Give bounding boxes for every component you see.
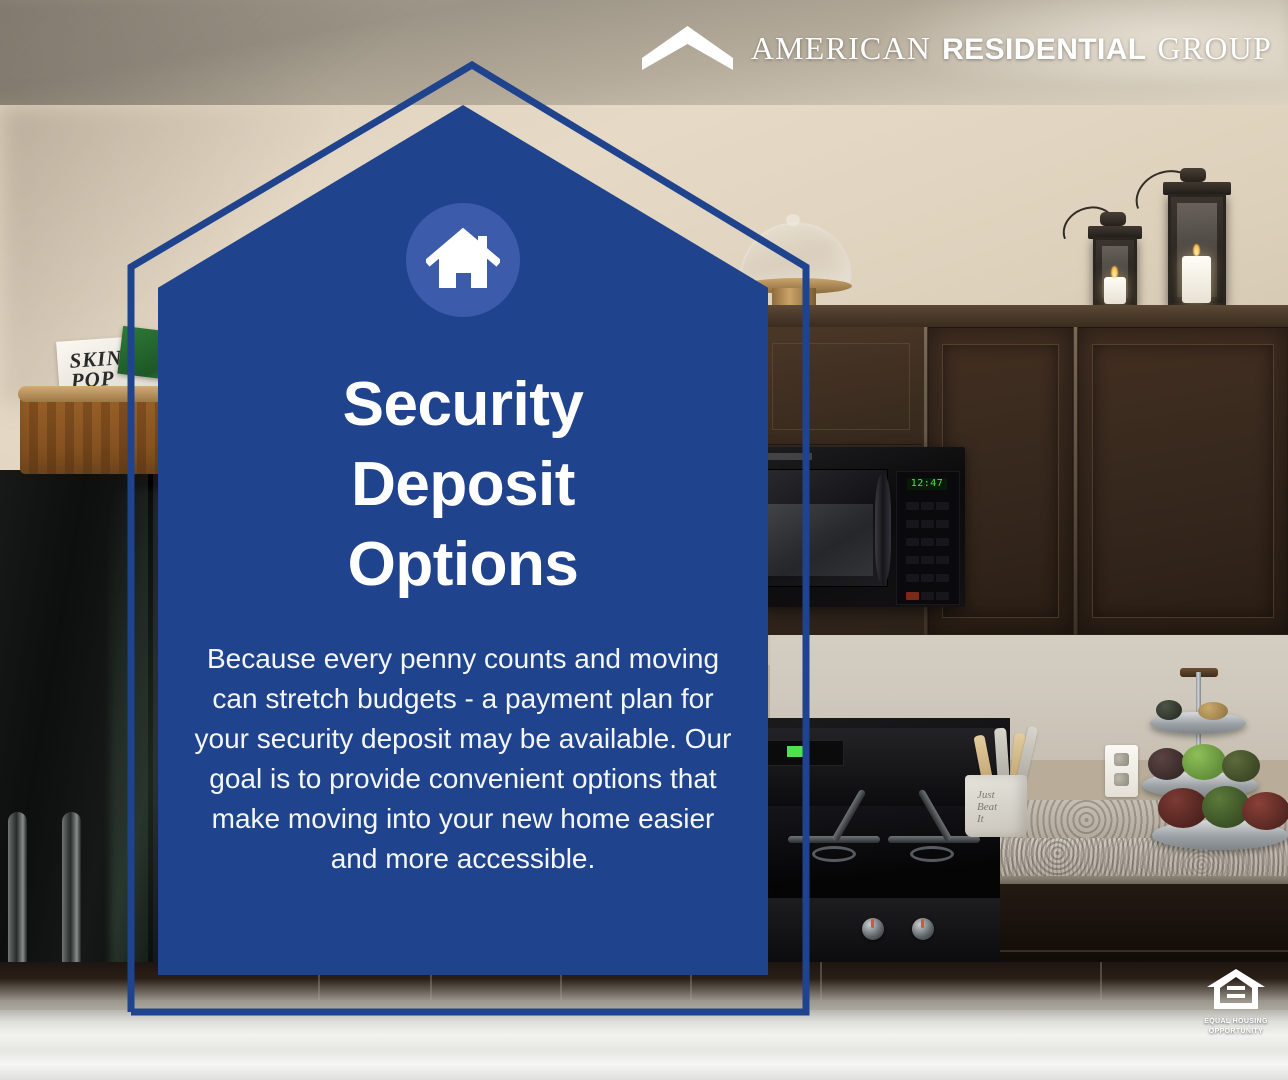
cabinet-seam-2 (1074, 327, 1077, 635)
microwave-clock-value: 12:47 (907, 478, 947, 490)
range-control-display (766, 740, 844, 766)
range-knob-1 (862, 918, 884, 940)
microwave-key (936, 538, 949, 546)
cabinet-above-microwave (760, 327, 922, 445)
produce-bot-1 (1158, 788, 1208, 828)
microwave-key (936, 556, 949, 564)
tile-seam (1100, 962, 1102, 1002)
produce-mid-3 (1222, 750, 1260, 782)
brand-word-american: AMERICAN (751, 30, 931, 67)
microwave-keypad (905, 498, 953, 606)
utensil-crock-label: JustBeatIt (977, 789, 997, 825)
produce-top-1 (1156, 700, 1182, 720)
microwave-key (921, 574, 934, 582)
page-title: Security Deposit Options (158, 365, 768, 605)
microwave-key (921, 556, 934, 564)
microwave-key (921, 538, 934, 546)
home-icon-badge (406, 203, 520, 317)
produce-top-2 (1198, 702, 1228, 720)
burner-ring-2 (910, 846, 954, 862)
equal-housing-opportunity-logo: EQUAL HOUSING OPPORTUNITY (1198, 967, 1274, 1036)
microwave-key (906, 538, 919, 546)
microwave-key (936, 502, 949, 510)
marketing-graphic: 12:47 SKINNY POP (0, 0, 1288, 1080)
microwave-door (760, 469, 888, 587)
chevron-up-icon (640, 24, 735, 72)
eho-line-1: EQUAL HOUSING (1198, 1018, 1274, 1026)
range-knob-2 (912, 918, 934, 940)
microwave-key (936, 520, 949, 528)
candle-flame-small (1111, 266, 1118, 278)
brand-wordmark: AMERICAN RESIDENTIAL GROUP (751, 30, 1272, 67)
microwave-handle (875, 473, 891, 585)
brand-word-group: GROUP (1158, 30, 1272, 67)
microwave-key (921, 592, 934, 600)
wall-outlet (1105, 745, 1138, 797)
microwave-key (936, 592, 949, 600)
wicker-basket (20, 392, 178, 474)
microwave-window (767, 504, 873, 576)
cabinet-door-right (1078, 327, 1288, 635)
panel-body-text: Because every penny counts and moving ca… (193, 639, 733, 879)
microwave-display: 12:47 (907, 478, 947, 490)
page-title-line-3: Options (158, 525, 768, 605)
brand-word-residential: RESIDENTIAL (942, 33, 1146, 67)
microwave-key (906, 502, 919, 510)
cake-dome-knob (786, 214, 800, 226)
home-icon (426, 225, 500, 295)
microwave-key (921, 520, 934, 528)
microwave-control-panel: 12:47 (896, 471, 960, 605)
produce-bot-3 (1242, 792, 1288, 830)
eho-line-2: OPPORTUNITY (1198, 1028, 1274, 1036)
equal-housing-opportunity-icon (1205, 967, 1267, 1011)
utensil-crock: JustBeatIt (965, 775, 1027, 837)
lower-cabinet-seam (1000, 950, 1288, 952)
wicker-basket-rim (18, 386, 180, 402)
lantern-knob-small (1100, 212, 1126, 226)
brand-logo: AMERICAN RESIDENTIAL GROUP (640, 24, 1272, 72)
page-title-line-2: Deposit (158, 445, 768, 525)
microwave-start-key (906, 592, 919, 600)
foreground-counter (0, 1010, 1288, 1080)
burner-ring-1 (812, 846, 856, 862)
microwave-key (906, 574, 919, 582)
burner-grate-2 (888, 836, 980, 843)
tile-seam (820, 962, 822, 1002)
cabinet-top-rail (760, 305, 1288, 327)
microwave: 12:47 (760, 447, 965, 607)
microwave-brand-label (766, 453, 812, 460)
candle-large (1182, 256, 1211, 303)
lantern-knob-large (1180, 168, 1206, 182)
range-display-value (787, 746, 803, 757)
produce-mid-2 (1182, 744, 1226, 780)
microwave-key (906, 556, 919, 564)
microwave-key (906, 520, 919, 528)
page-title-line-1: Security (158, 365, 768, 445)
produce-mid-1 (1148, 748, 1186, 780)
microwave-key (921, 502, 934, 510)
ceiling-shadow (0, 0, 480, 110)
microwave-key (936, 574, 949, 582)
panel-content: Security Deposit Options Because every p… (158, 105, 768, 975)
candle-flame-large (1193, 244, 1200, 256)
candle-small (1104, 277, 1126, 304)
